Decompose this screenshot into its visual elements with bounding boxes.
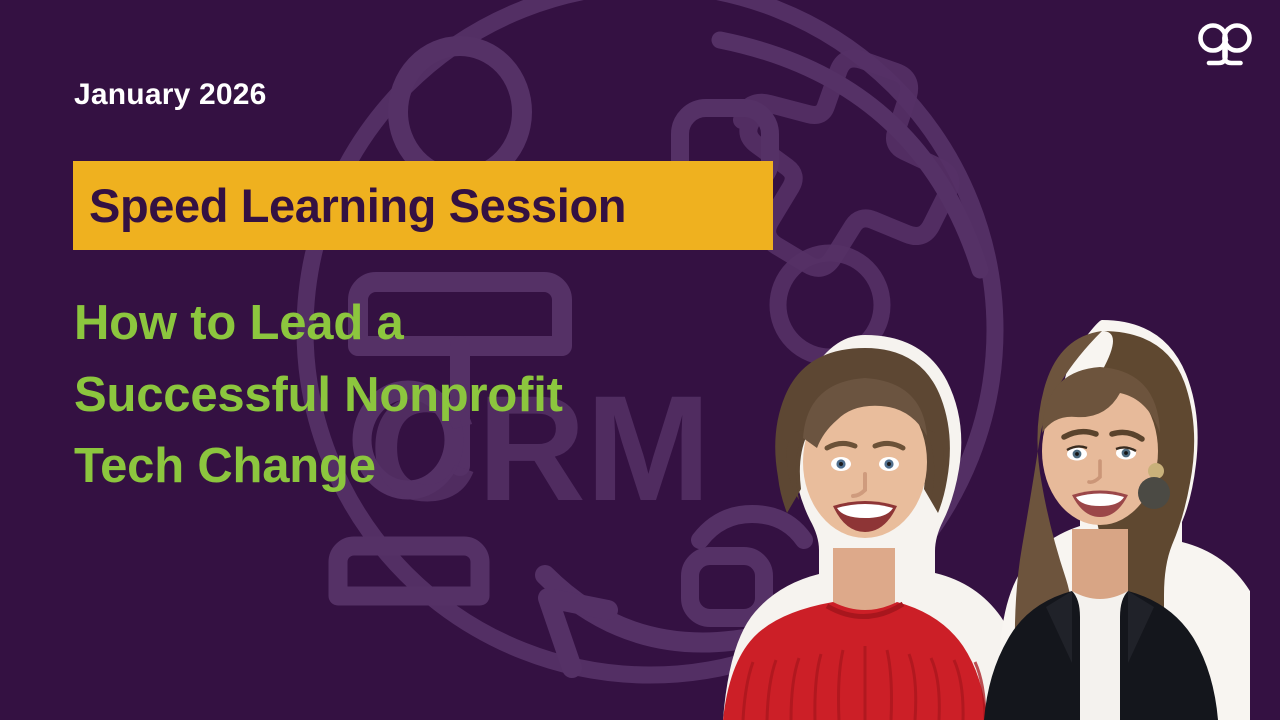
headline-line-2: Successful Nonprofit xyxy=(74,360,734,432)
session-type-label: Speed Learning Session xyxy=(89,182,626,229)
presenter-photo-b xyxy=(960,315,1250,720)
presenter-b-earring-top xyxy=(1148,463,1164,479)
date-kicker: January 2026 xyxy=(74,78,267,111)
presenter-b-neck xyxy=(1072,529,1128,602)
promo-graphic: CRM January 2026 Speed Learning Session … xyxy=(0,0,1280,720)
presenter-photos xyxy=(660,300,1280,720)
logo-left-loop xyxy=(1201,26,1226,51)
headline-line-1: How to Lead a xyxy=(74,288,734,360)
presenter-b-earring-drop xyxy=(1138,477,1170,509)
logo-right-loop xyxy=(1225,26,1250,51)
session-type-banner: Speed Learning Session xyxy=(73,161,773,250)
headline-line-3: Tech Change xyxy=(74,431,734,503)
session-headline: How to Lead a Successful Nonprofit Tech … xyxy=(74,288,734,503)
ge-monogram-logo[interactable] xyxy=(1192,18,1258,70)
